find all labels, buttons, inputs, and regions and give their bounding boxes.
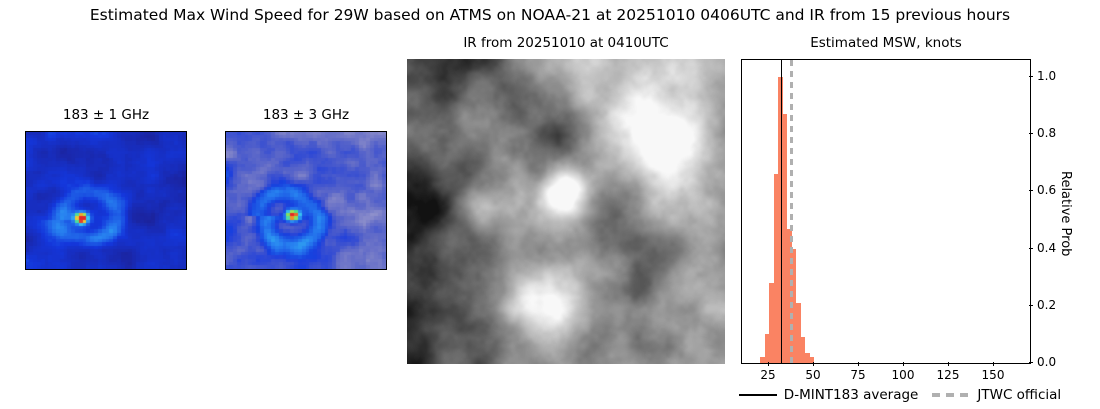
- microwave-panel-183-3ghz: 183 ± 3 GHz: [225, 131, 387, 270]
- y-tick-label: 0.4: [1037, 241, 1056, 255]
- histogram-ylabel: Relative Prob: [1058, 171, 1073, 256]
- x-tick-label: 25: [760, 368, 775, 382]
- legend-swatch-solid-line: [739, 394, 777, 396]
- x-tick-label: 50: [805, 368, 820, 382]
- legend-entry-dmint183: D-MINT183 average: [739, 387, 919, 403]
- y-tick-label: 0.2: [1037, 298, 1056, 312]
- legend-entry-jtwc: JTWC official: [932, 387, 1061, 403]
- x-tick-label: 100: [892, 368, 915, 382]
- y-tick-label: 0.0: [1037, 355, 1056, 369]
- y-tick: [1029, 76, 1033, 77]
- x-tick: [858, 362, 859, 366]
- microwave-image-183-3ghz: [225, 131, 387, 270]
- ir-panel-title: IR from 20251010 at 0410UTC: [407, 35, 725, 51]
- x-tick-label: 75: [850, 368, 865, 382]
- y-tick-label: 0.8: [1037, 126, 1056, 140]
- x-tick: [993, 362, 994, 366]
- figure-suptitle: Estimated Max Wind Speed for 29W based o…: [0, 6, 1100, 24]
- ir-image: [407, 59, 725, 364]
- microwave-panel-2-title: 183 ± 3 GHz: [225, 107, 387, 123]
- x-tick-label: 150: [982, 368, 1005, 382]
- x-tick: [903, 362, 904, 366]
- y-tick: [1029, 248, 1033, 249]
- x-tick: [768, 362, 769, 366]
- histogram-panel: Estimated MSW, knots 2550751001251500.00…: [741, 59, 1031, 364]
- y-tick: [1029, 190, 1033, 191]
- legend-label-jtwc: JTWC official: [977, 387, 1061, 403]
- figure-legend: D-MINT183 average JTWC official: [700, 384, 1100, 406]
- legend-label-dmint183: D-MINT183 average: [784, 387, 919, 403]
- y-tick: [1029, 362, 1033, 363]
- y-tick-label: 1.0: [1037, 69, 1056, 83]
- legend-swatch-dashed-line: [932, 393, 970, 397]
- microwave-panel-1-title: 183 ± 1 GHz: [25, 107, 187, 123]
- microwave-image-183-1ghz: [25, 131, 187, 270]
- y-tick-label: 0.6: [1037, 183, 1056, 197]
- y-tick: [1029, 133, 1033, 134]
- ir-panel: IR from 20251010 at 0410UTC: [407, 59, 725, 364]
- vline-jtwc-official: [790, 60, 793, 363]
- y-tick: [1029, 305, 1033, 306]
- histogram-axes: [741, 59, 1031, 364]
- x-tick-label: 125: [937, 368, 960, 382]
- vline-dmint183-average: [781, 60, 783, 363]
- x-tick: [948, 362, 949, 366]
- microwave-panel-183-1ghz: 183 ± 1 GHz: [25, 131, 187, 270]
- x-tick: [813, 362, 814, 366]
- histogram-title: Estimated MSW, knots: [741, 35, 1031, 51]
